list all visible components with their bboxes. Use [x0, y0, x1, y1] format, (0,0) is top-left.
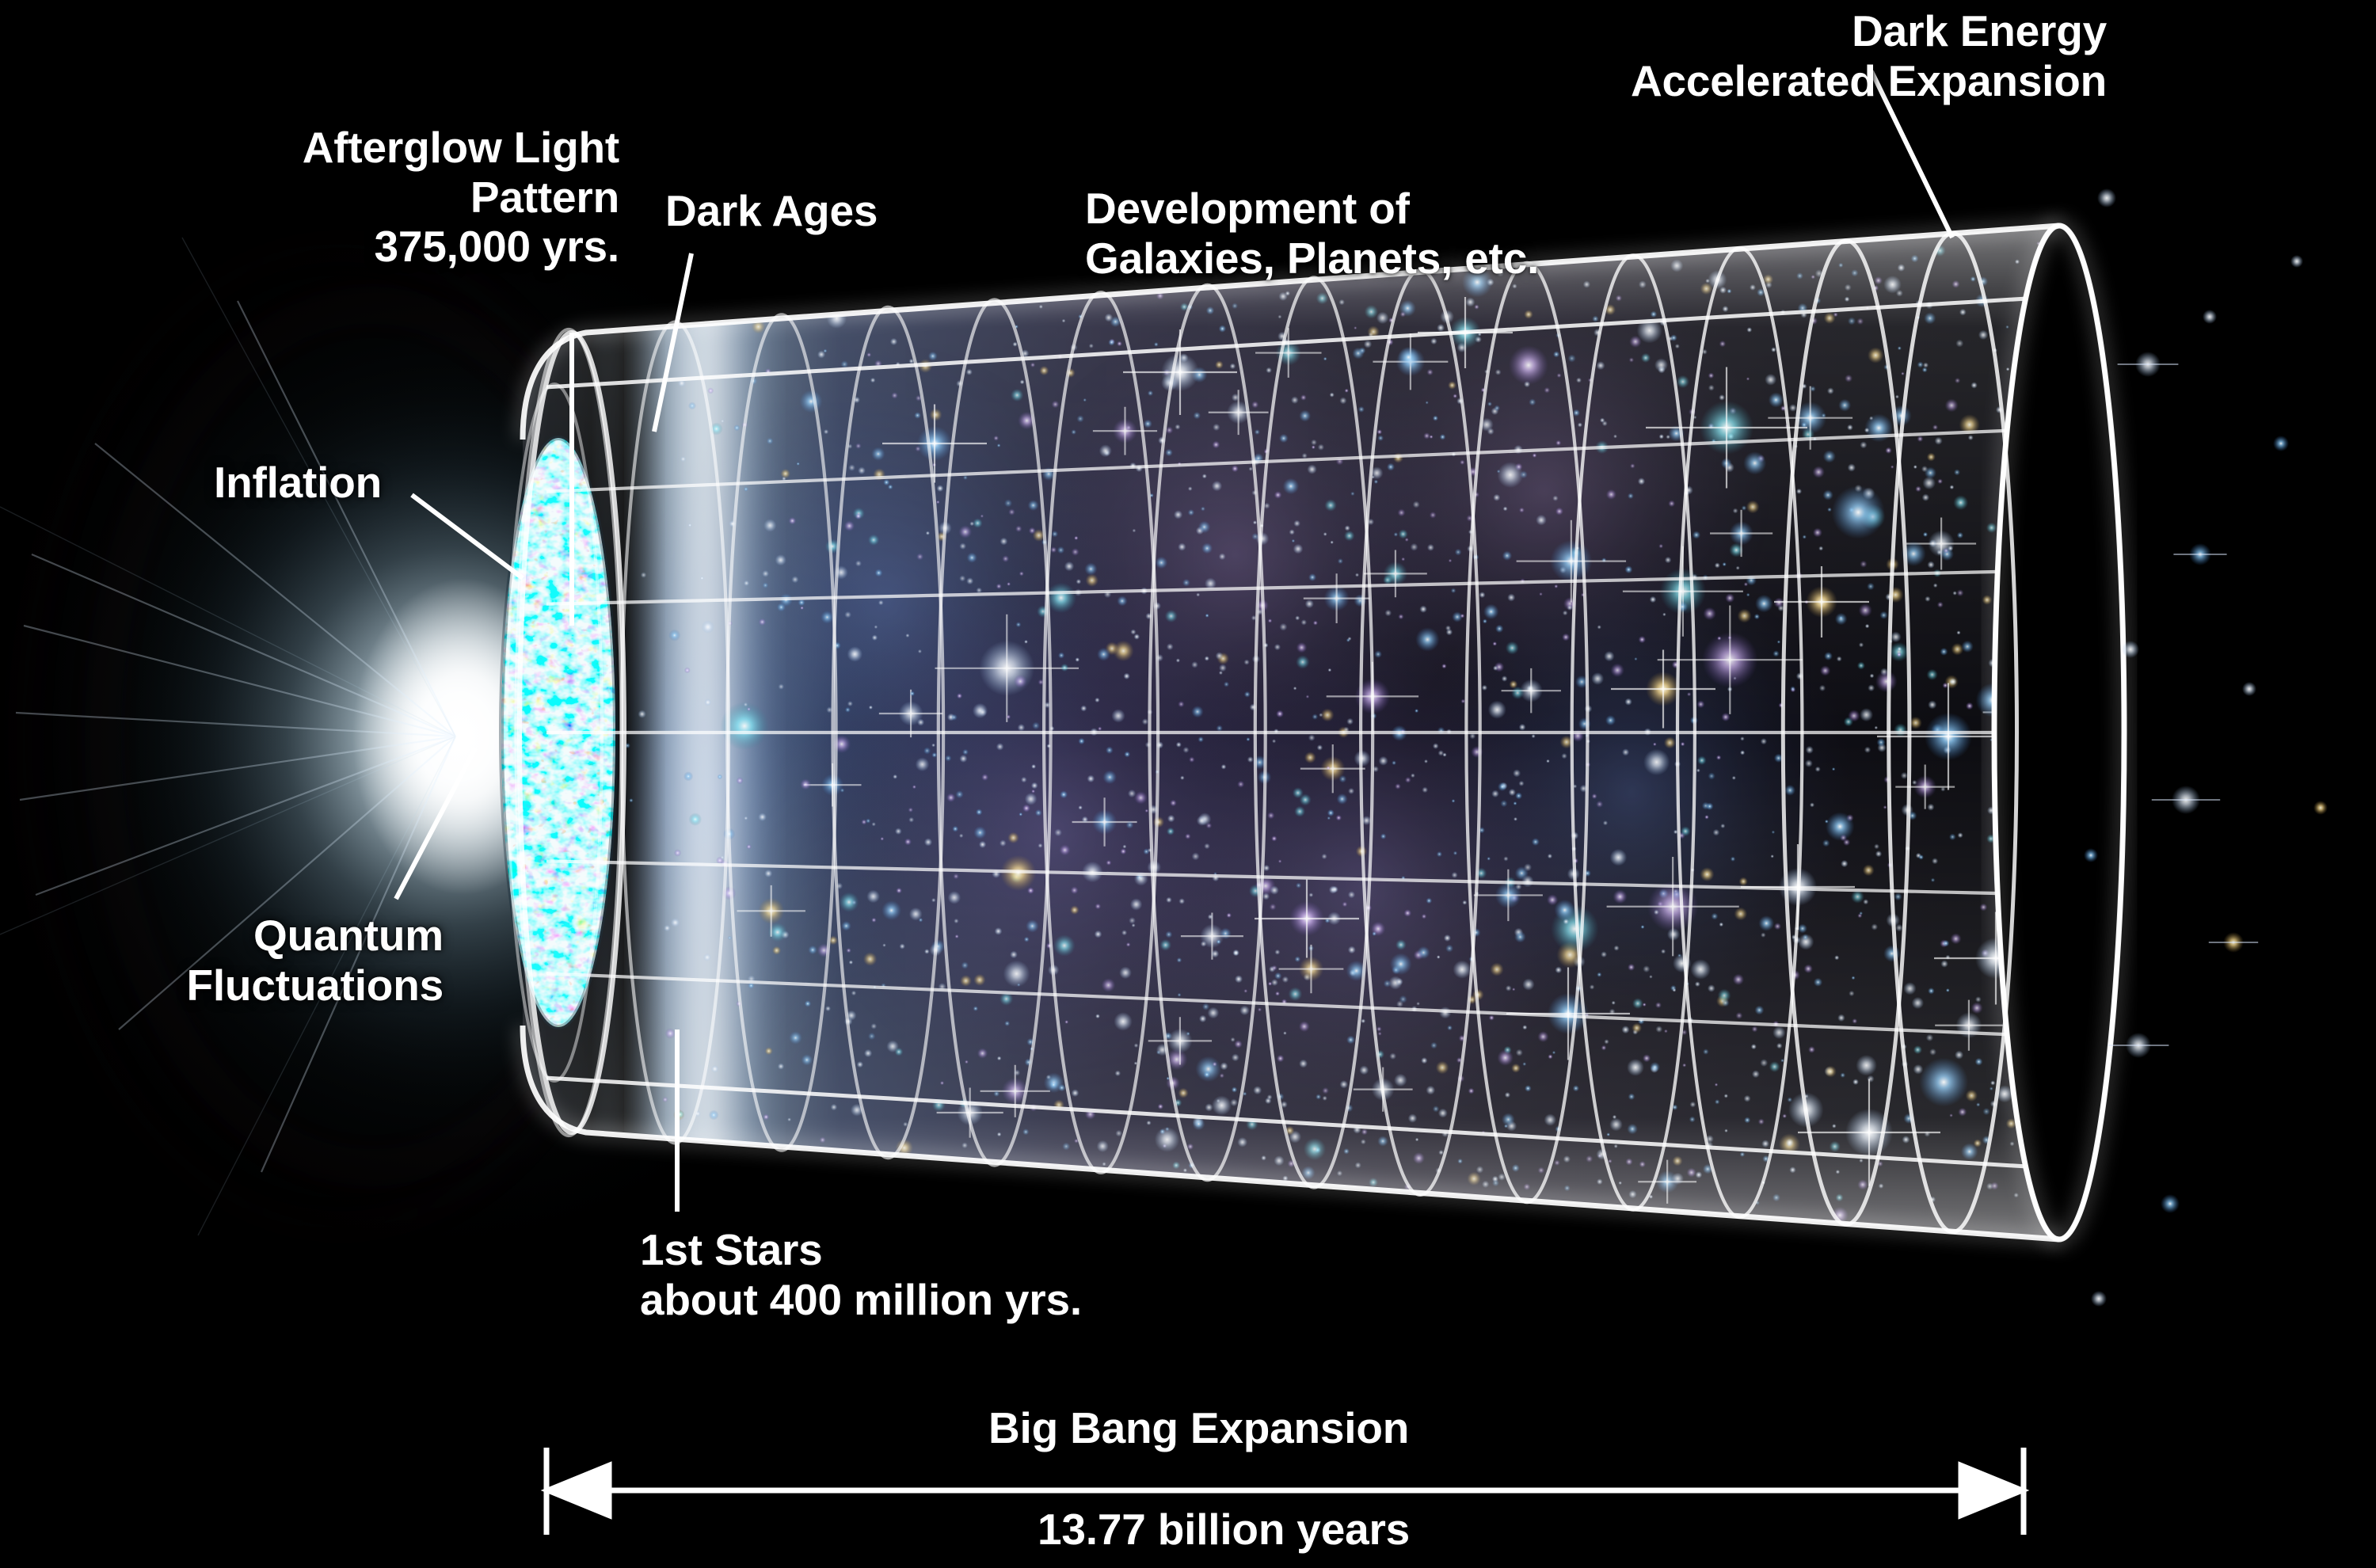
- outer-galaxy: [2084, 848, 2098, 862]
- outer-galaxy: [2242, 682, 2256, 696]
- outer-galaxy: [2203, 310, 2217, 324]
- outer-galaxy: [2097, 188, 2116, 207]
- outer-galaxy: [2313, 801, 2328, 815]
- label-dark-energy: Dark Energy Accelerated Expansion: [1505, 6, 2107, 105]
- outer-galaxy: [2273, 436, 2289, 451]
- label-quantum-fluctuations: Quantum Fluctuations: [182, 911, 444, 1010]
- label-big-bang-expansion: Big Bang Expansion: [988, 1403, 1409, 1453]
- outer-galaxy: [2122, 641, 2139, 658]
- label-dark-ages: Dark Ages: [665, 186, 878, 236]
- label-development-of-galaxies: Development of Galaxies, Planets, etc.: [1085, 184, 1539, 283]
- outer-galaxy: [2161, 1194, 2180, 1213]
- label-afterglow-light-pattern: Afterglow Light Pattern 375,000 yrs.: [208, 123, 619, 272]
- universe-timeline-figure: Afterglow Light Pattern 375,000 yrs. Dar…: [0, 0, 2376, 1568]
- outer-galaxy: [2290, 255, 2303, 268]
- label-inflation: Inflation: [214, 458, 382, 508]
- label-first-stars: 1st Stars about 400 million yrs.: [640, 1225, 1082, 1324]
- outer-galaxy: [2091, 1291, 2107, 1307]
- label-total-years: 13.77 billion years: [1038, 1505, 1410, 1555]
